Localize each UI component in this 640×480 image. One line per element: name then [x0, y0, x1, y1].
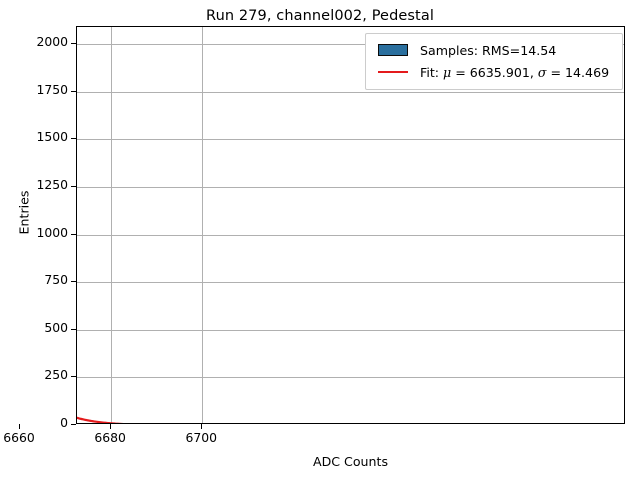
line-swatch-icon	[374, 61, 412, 83]
bar-swatch-icon	[374, 39, 412, 61]
legend-label-fit: Fit: μ = 6635.901, σ = 14.469	[412, 65, 609, 80]
page-title: Run 279, channel002, Pedestal	[0, 8, 640, 24]
y-tick	[71, 424, 76, 425]
legend-sigma-value: = 14.469	[546, 65, 609, 80]
legend-fit-prefix: Fit:	[420, 65, 443, 80]
y-tick-label: 1500	[8, 131, 68, 143]
legend-mu-value: = 6635.901,	[451, 65, 538, 80]
y-tick-label: 1250	[8, 179, 68, 191]
y-axis-label: Entries	[17, 153, 32, 273]
legend-item-fit: Fit: μ = 6635.901, σ = 14.469	[374, 61, 614, 83]
x-tick	[201, 424, 202, 429]
x-axis-label: ADC Counts	[76, 454, 625, 469]
legend-label-samples: Samples: RMS=14.54	[412, 43, 556, 58]
x-tick-label: 6700	[171, 432, 231, 444]
x-tick	[19, 424, 20, 429]
x-tick-label: 6660	[0, 432, 49, 444]
legend-mu-symbol: μ	[443, 65, 451, 80]
legend-item-samples: Samples: RMS=14.54	[374, 39, 614, 61]
y-tick-label: 500	[8, 322, 68, 334]
x-tick-label: 6680	[80, 432, 140, 444]
legend: Samples: RMS=14.54 Fit: μ = 6635.901, σ …	[365, 33, 623, 90]
y-tick-label: 0	[8, 417, 68, 429]
y-tick-label: 1000	[8, 227, 68, 239]
x-tick	[110, 424, 111, 429]
y-tick-label: 750	[8, 274, 68, 286]
y-tick-label: 1750	[8, 84, 68, 96]
figure-canvas: Run 279, channel002, Pedestal Entries AD…	[0, 0, 640, 480]
y-tick-label: 2000	[8, 36, 68, 48]
y-tick-label: 250	[8, 369, 68, 381]
